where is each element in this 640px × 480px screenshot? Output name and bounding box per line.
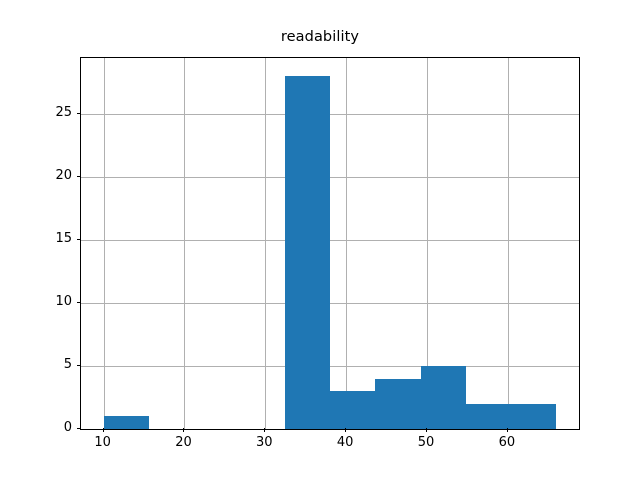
- plot-area: [80, 57, 580, 430]
- x-axis-tick-label: 50: [406, 435, 446, 450]
- y-axis-tick-label: 20: [40, 168, 72, 183]
- histogram-bar: [421, 366, 466, 429]
- tick-mark-y: [77, 428, 81, 429]
- tick-mark-x: [103, 428, 104, 432]
- y-axis-tick-label: 0: [40, 420, 72, 435]
- histogram-bar: [511, 404, 556, 429]
- tick-mark-x: [183, 428, 184, 432]
- tick-mark-x: [264, 428, 265, 432]
- tick-mark-x: [345, 428, 346, 432]
- histogram-bar: [285, 76, 330, 429]
- figure: readability 1020304050600510152025: [0, 0, 640, 480]
- tick-mark-y: [77, 365, 81, 366]
- x-axis-tick-label: 30: [244, 435, 284, 450]
- tick-mark-y: [77, 239, 81, 240]
- y-axis-tick-label: 5: [40, 357, 72, 372]
- x-axis-tick-label: 20: [163, 435, 203, 450]
- x-axis-tick-label: 60: [487, 435, 527, 450]
- tick-mark-x: [507, 428, 508, 432]
- tick-mark-y: [77, 176, 81, 177]
- bars-layer: [81, 58, 579, 429]
- x-axis-tick-label: 40: [325, 435, 365, 450]
- tick-mark-x: [426, 428, 427, 432]
- histogram-bar: [330, 391, 375, 429]
- x-axis-tick-label: 10: [83, 435, 123, 450]
- y-axis-tick-label: 15: [40, 231, 72, 246]
- histogram-bar: [375, 379, 420, 429]
- histogram-bar: [104, 416, 149, 429]
- chart-title: readability: [0, 29, 640, 45]
- histogram-bar: [466, 404, 511, 429]
- tick-mark-y: [77, 302, 81, 303]
- tick-mark-y: [77, 113, 81, 114]
- y-axis-tick-label: 25: [40, 105, 72, 120]
- y-axis-tick-label: 10: [40, 294, 72, 309]
